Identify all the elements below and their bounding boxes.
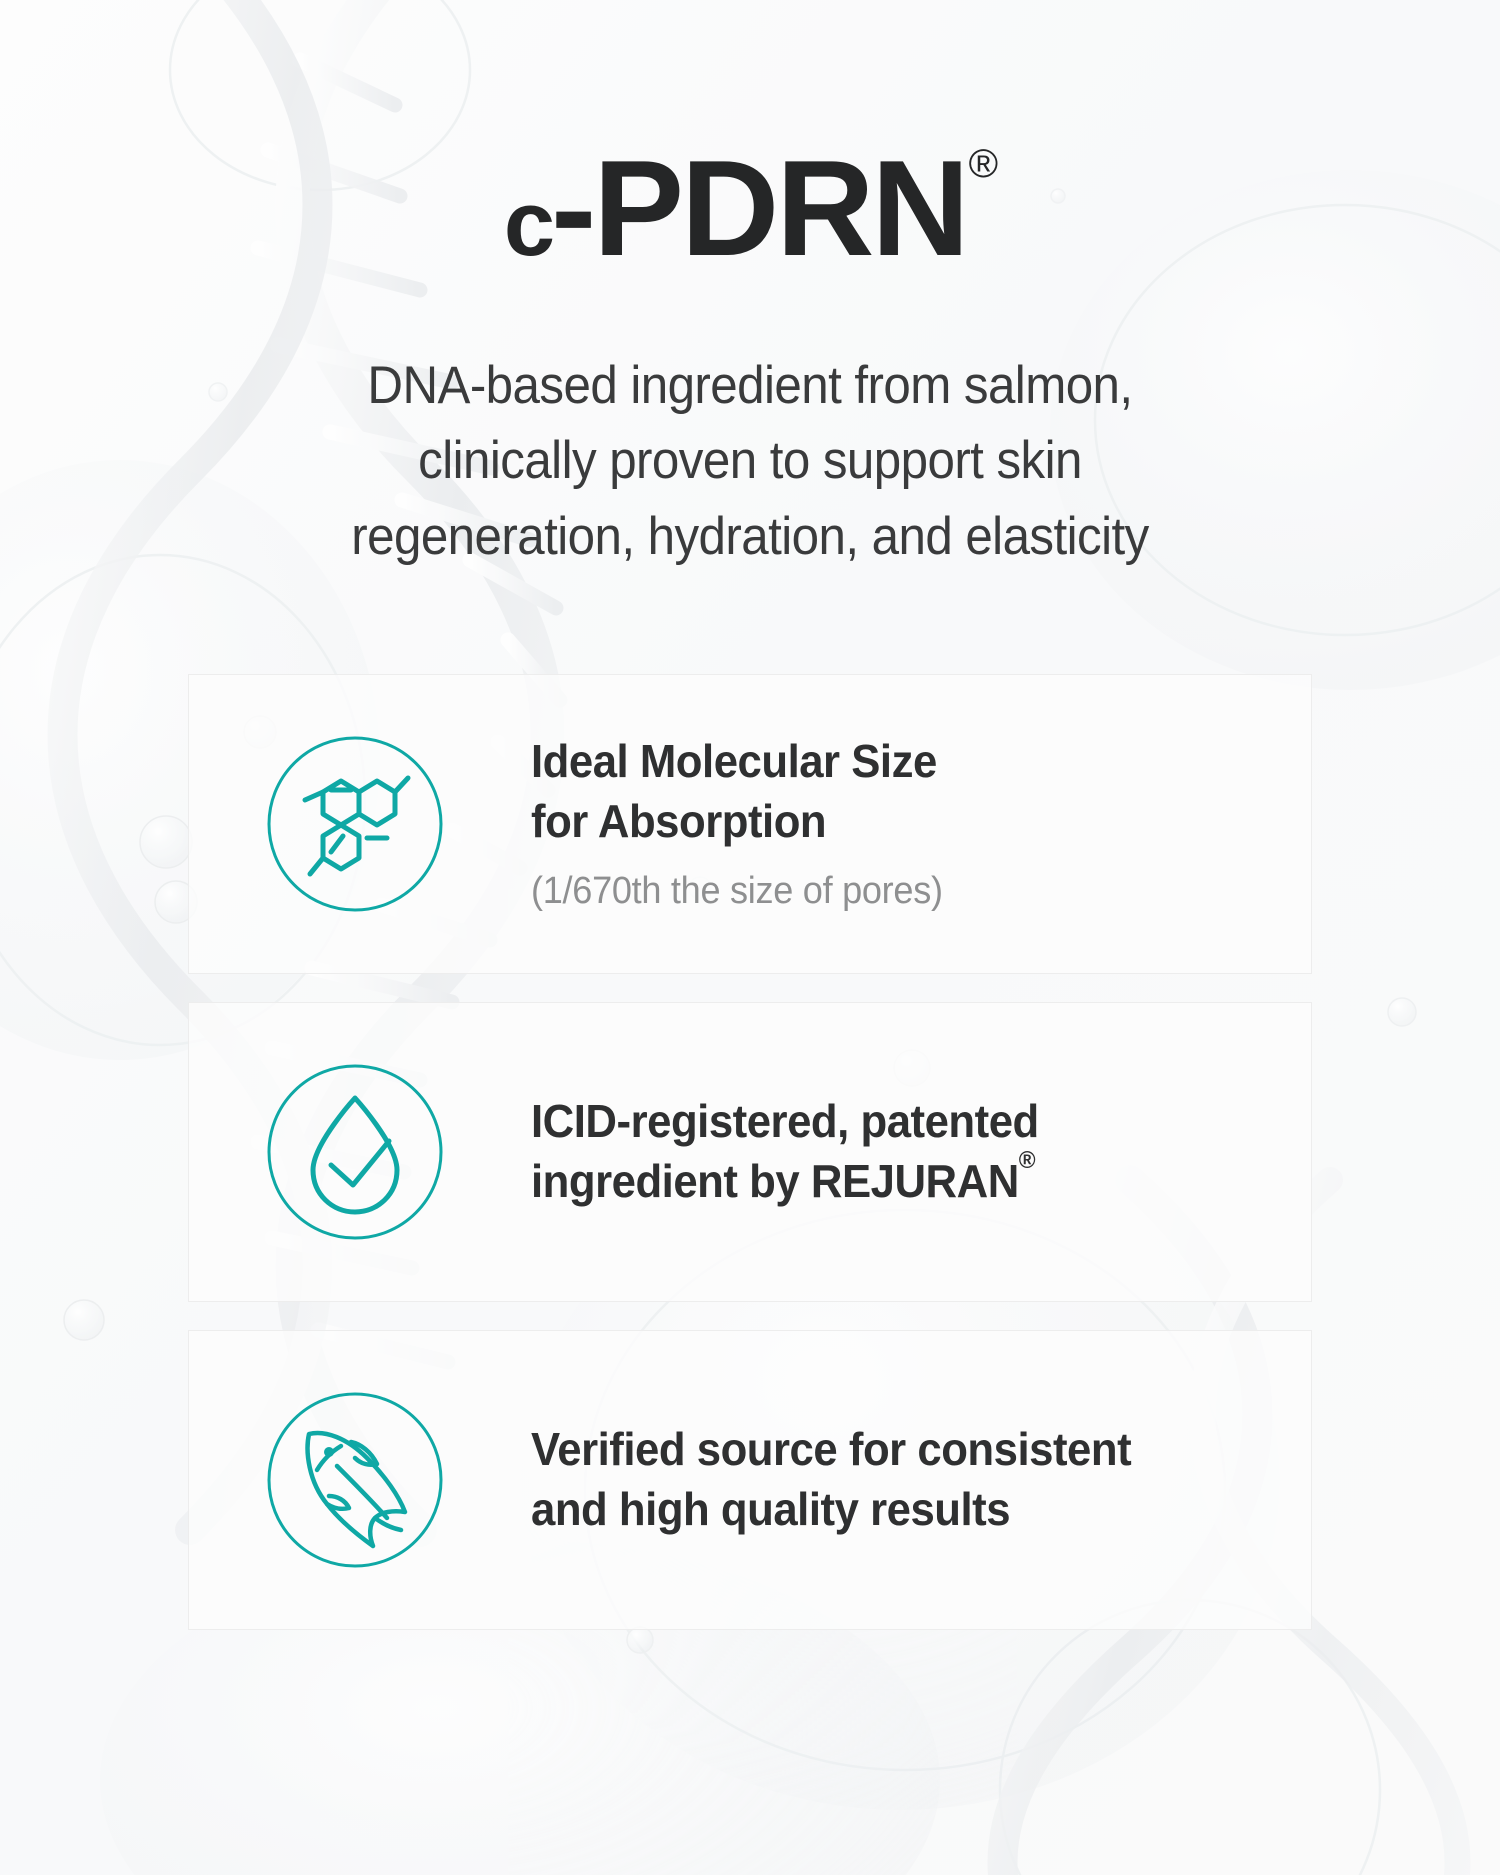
feature-card-subtext: (1/670th the size of pores): [531, 868, 1272, 916]
feature-card-text: Ideal Molecular Size for Absorption (1/6…: [531, 732, 1311, 915]
hero-header: c-PDRN®: [0, 0, 1500, 276]
feature-card-list: Ideal Molecular Size for Absorption (1/6…: [188, 674, 1312, 1630]
molecule-icon: [265, 734, 445, 914]
registered-trademark-symbol: ®: [969, 142, 998, 186]
feature-card-title: Ideal Molecular Size for Absorption: [531, 732, 1272, 852]
fish-icon: [265, 1390, 445, 1570]
subtitle-line-3: regeneration, hydration, and elasticity: [225, 499, 1276, 574]
registered-trademark-symbol: ®: [1019, 1147, 1035, 1174]
feature-card-icid-registered: ICID-registered, patented ingredient by …: [188, 1002, 1312, 1302]
hero-subtitle: DNA-based ingredient from salmon, clinic…: [225, 348, 1276, 574]
subtitle-line-2: clinically proven to support skin: [225, 423, 1276, 498]
feature-card-text: Verified source for consistent and high …: [531, 1420, 1311, 1540]
subtitle-line-1: DNA-based ingredient from salmon,: [225, 348, 1276, 423]
brand-hyphen: -: [551, 132, 593, 284]
feature-card-title-line-2: for Absorption: [531, 792, 1272, 852]
page-title: c-PDRN®: [504, 140, 996, 276]
feature-card-verified-source: Verified source for consistent and high …: [188, 1330, 1312, 1630]
feature-card-title-line-1: ICID-registered, patented: [531, 1092, 1272, 1152]
brand-name: PDRN: [593, 132, 966, 284]
feature-card-text: ICID-registered, patented ingredient by …: [531, 1092, 1311, 1212]
feature-card-title-line-1: Verified source for consistent: [531, 1420, 1272, 1480]
feature-card-title: ICID-registered, patented ingredient by …: [531, 1092, 1272, 1212]
brand-prefix: c: [504, 173, 551, 275]
feature-card-title-line-2-text: ingredient by REJURAN: [531, 1155, 1019, 1207]
feature-card-title: Verified source for consistent and high …: [531, 1420, 1272, 1540]
droplet-check-icon: [265, 1062, 445, 1242]
feature-card-molecular-size: Ideal Molecular Size for Absorption (1/6…: [188, 674, 1312, 974]
feature-card-title-line-2: and high quality results: [531, 1480, 1272, 1540]
promo-page: c-PDRN® DNA-based ingredient from salmon…: [0, 0, 1500, 1875]
feature-card-title-line-2: ingredient by REJURAN®: [531, 1152, 1272, 1212]
feature-card-title-line-1: Ideal Molecular Size: [531, 732, 1272, 792]
